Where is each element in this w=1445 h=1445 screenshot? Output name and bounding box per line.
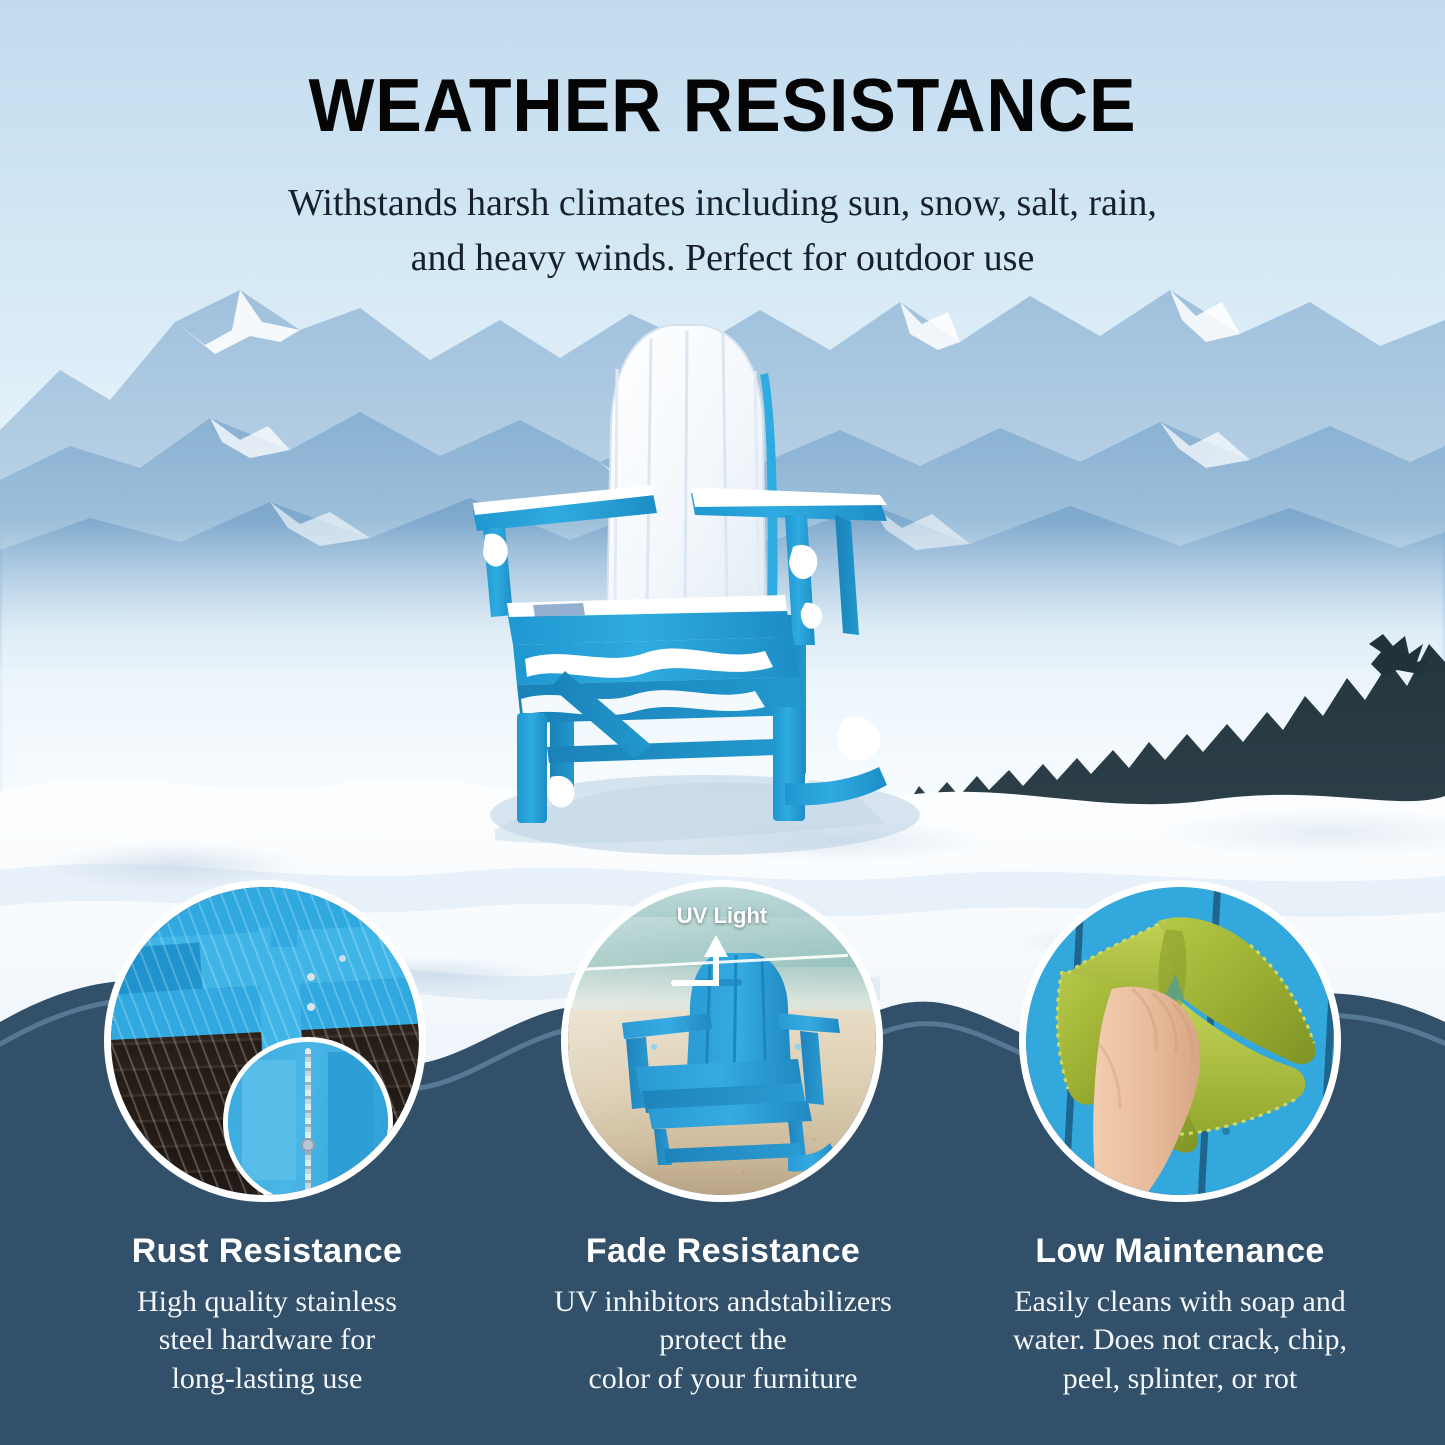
feature-body-line: color of your furniture	[513, 1360, 933, 1398]
feature-body-line: protect the	[513, 1321, 933, 1359]
feature-title: Low Maintenance	[970, 1232, 1390, 1271]
feature-body-line: High quality stainless	[57, 1283, 477, 1321]
feature-body-line: water. Does not crack, chip,	[970, 1321, 1390, 1359]
page-subtitle: Withstands harsh climates including sun,…	[0, 176, 1445, 285]
subtitle-line-2: and heavy winds. Perfect for outdoor use	[0, 231, 1445, 286]
feature-body: High quality stainless steel hardware fo…	[57, 1283, 477, 1398]
feature-body-line: Easily cleans with soap and	[970, 1283, 1390, 1321]
feature-image-low-maintenance	[1019, 880, 1341, 1202]
page-title: WEATHER RESISTANCE	[51, 68, 1395, 143]
feature-text-fade-resistance: Fade Resistance UV inhibitors andstabili…	[513, 1232, 933, 1398]
feature-body-line: long-lasting use	[57, 1360, 477, 1398]
feature-body-line: peel, splinter, or rot	[970, 1360, 1390, 1398]
feature-title: Fade Resistance	[513, 1232, 933, 1271]
uv-light-label: UV Light	[568, 903, 876, 929]
feature-text-low-maintenance: Low Maintenance Easily cleans with soap …	[970, 1232, 1390, 1398]
feature-body-line: UV inhibitors andstabilizers	[513, 1283, 933, 1321]
subtitle-line-1: Withstands harsh climates including sun,…	[0, 176, 1445, 231]
uv-arrow-icon	[664, 931, 774, 991]
feature-body: Easily cleans with soap and water. Does …	[970, 1283, 1390, 1398]
hand	[1078, 983, 1268, 1195]
hero-snow-covered-chair	[455, 315, 925, 855]
stainless-chain-inset	[223, 1037, 393, 1195]
feature-body-line: steel hardware for	[57, 1321, 477, 1359]
weather-resistance-poster: WEATHER RESISTANCE Withstands harsh clim…	[0, 0, 1445, 1445]
feature-title: Rust Resistance	[57, 1232, 477, 1271]
feature-image-fade-resistance: UV Light	[561, 880, 883, 1202]
feature-body: UV inhibitors andstabilizers protect the…	[513, 1283, 933, 1398]
feature-text-rust-resistance: Rust Resistance High quality stainless s…	[57, 1232, 477, 1398]
feature-image-rust-resistance	[104, 880, 426, 1202]
